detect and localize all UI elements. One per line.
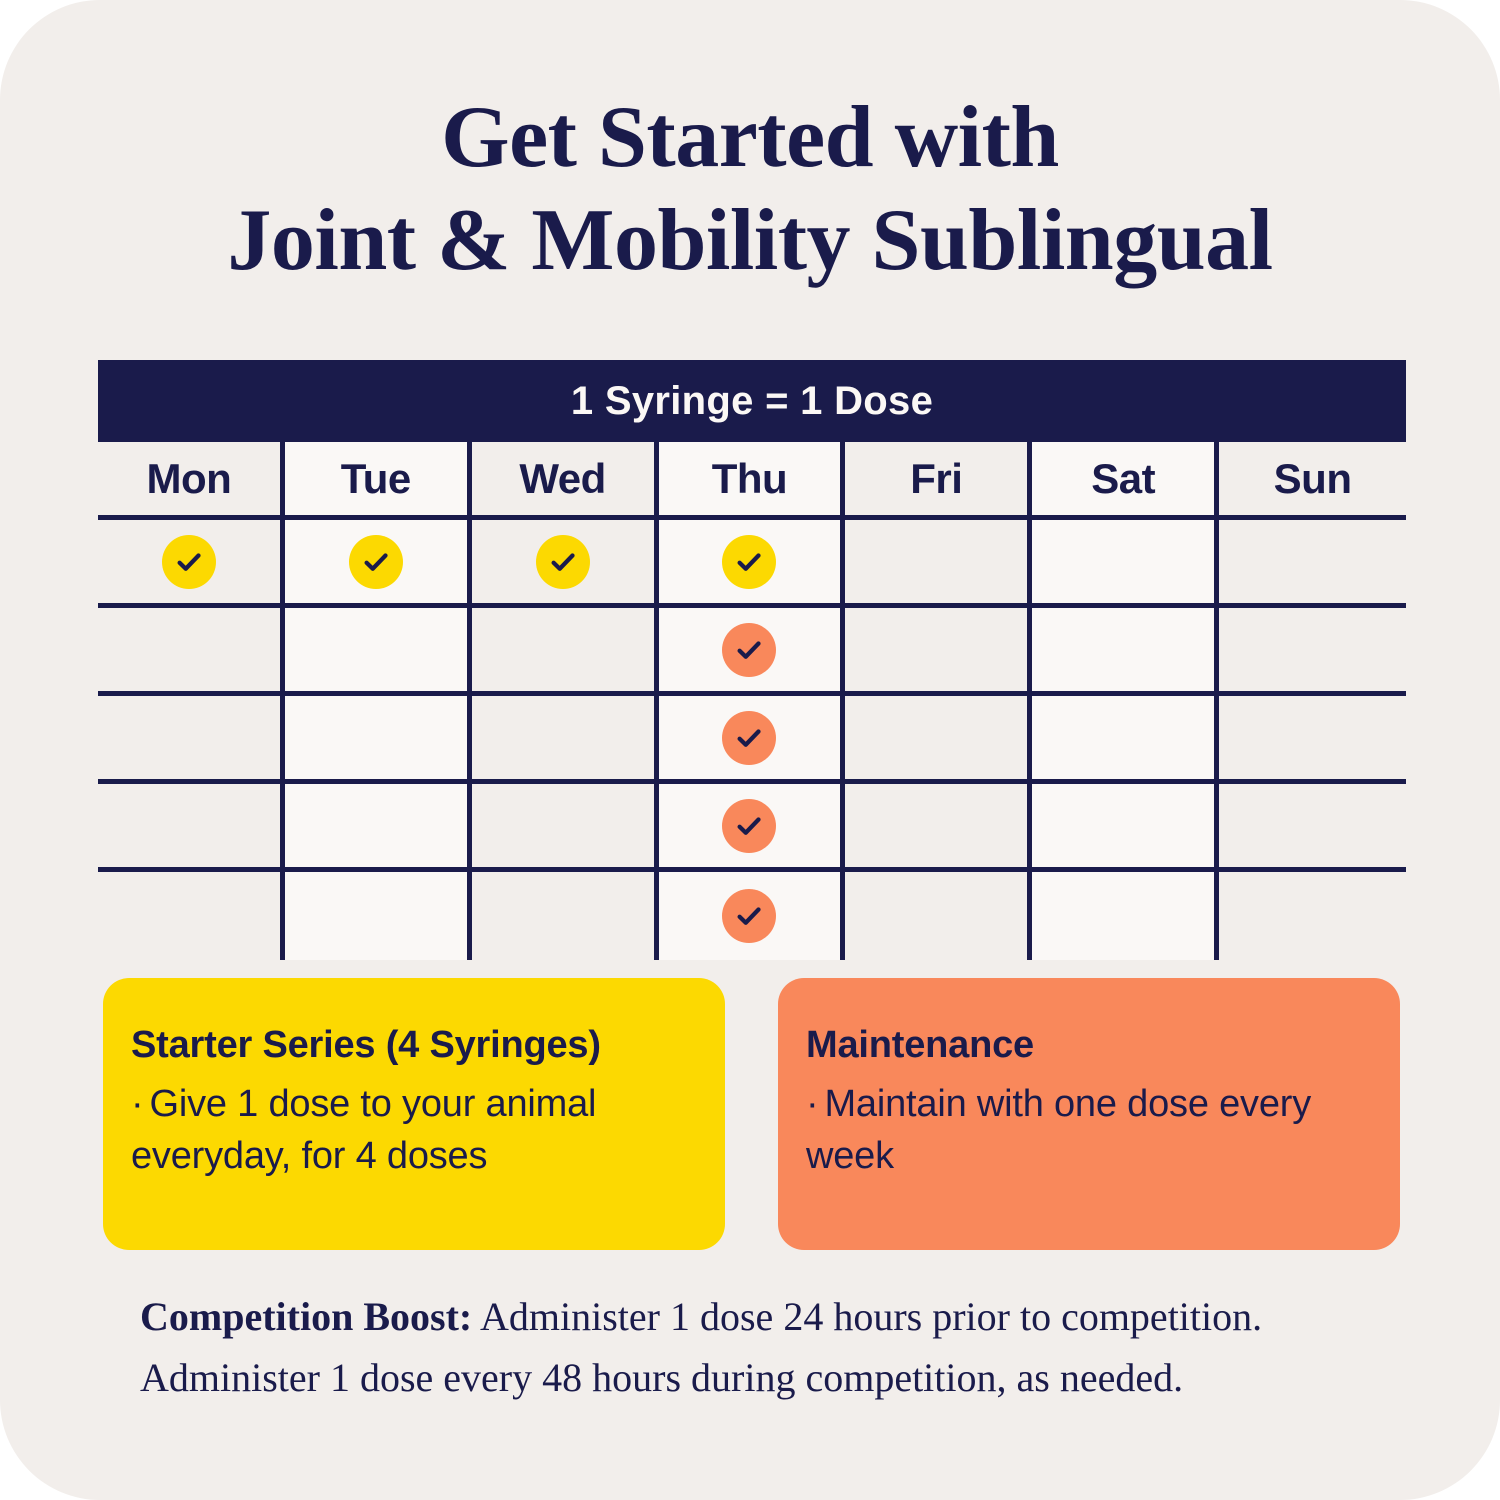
calendar-cell-sun-4[interactable] — [1219, 784, 1406, 872]
page-title-line-1: Get Started with — [0, 86, 1500, 189]
calendar-cell-thu-2[interactable] — [659, 608, 846, 696]
calendar-cell-tue-5[interactable] — [285, 872, 472, 960]
calendar-cell-fri-4[interactable] — [845, 784, 1032, 872]
dose-yellow-check-icon — [536, 535, 590, 589]
calendar-cell-wed-2[interactable] — [472, 608, 659, 696]
dose-yellow-check-icon — [349, 535, 403, 589]
calendar-cell-fri-3[interactable] — [845, 696, 1032, 784]
calendar-day-header-label: Sat — [1091, 455, 1155, 503]
calendar-cell-tue-3[interactable] — [285, 696, 472, 784]
legend-card-maintenance: Maintenance·Maintain with one dose every… — [778, 978, 1400, 1250]
dose-orange-check-icon — [722, 711, 776, 765]
calendar-cell-thu-1[interactable] — [659, 520, 846, 608]
calendar-grid: MonTueWedThuFriSatSun — [98, 442, 1406, 960]
calendar-cell-thu-5[interactable] — [659, 872, 846, 960]
calendar-cell-fri-5[interactable] — [845, 872, 1032, 960]
calendar-day-header-sun: Sun — [1219, 442, 1406, 520]
calendar-cell-wed-3[interactable] — [472, 696, 659, 784]
calendar-cell-mon-1[interactable] — [98, 520, 285, 608]
dose-orange-check-icon — [722, 623, 776, 677]
calendar-cell-tue-2[interactable] — [285, 608, 472, 696]
page-title: Get Started with Joint & Mobility Sublin… — [0, 86, 1500, 292]
bullet-dot-icon: · — [131, 1083, 143, 1125]
calendar-day-header-fri: Fri — [845, 442, 1032, 520]
calendar-day-header-label: Fri — [910, 455, 962, 503]
calendar-day-header-wed: Wed — [472, 442, 659, 520]
calendar-cell-sat-3[interactable] — [1032, 696, 1219, 784]
calendar-cell-sat-2[interactable] — [1032, 608, 1219, 696]
calendar-cell-sat-4[interactable] — [1032, 784, 1219, 872]
calendar-cell-sun-3[interactable] — [1219, 696, 1406, 784]
calendar-cell-thu-3[interactable] — [659, 696, 846, 784]
dose-yellow-check-icon — [162, 535, 216, 589]
legend-card-bullet: ·Give 1 dose to your animal everyday, fo… — [131, 1078, 689, 1182]
calendar-banner: 1 Syringe = 1 Dose — [98, 360, 1406, 442]
calendar-cell-fri-2[interactable] — [845, 608, 1032, 696]
calendar-cell-mon-4[interactable] — [98, 784, 285, 872]
calendar-cell-mon-2[interactable] — [98, 608, 285, 696]
legend-card-bullet-text: Give 1 dose to your animal everyday, for… — [131, 1083, 596, 1177]
legend-card-bullet-text: Maintain with one dose every week — [806, 1083, 1311, 1177]
calendar-cell-fri-1[interactable] — [845, 520, 1032, 608]
legend-row: Starter Series (4 Syringes)·Give 1 dose … — [103, 978, 1403, 1250]
calendar-cell-sun-2[interactable] — [1219, 608, 1406, 696]
calendar-cell-tue-1[interactable] — [285, 520, 472, 608]
calendar-day-header-label: Mon — [147, 455, 232, 503]
calendar-day-header-label: Tue — [341, 455, 411, 503]
footnote: Competition Boost: Administer 1 dose 24 … — [140, 1286, 1320, 1408]
calendar-cell-sun-1[interactable] — [1219, 520, 1406, 608]
calendar-cell-thu-4[interactable] — [659, 784, 846, 872]
calendar-cell-sat-5[interactable] — [1032, 872, 1219, 960]
legend-card-title: Starter Series (4 Syringes) — [131, 1022, 689, 1068]
calendar-cell-mon-5[interactable] — [98, 872, 285, 960]
calendar-day-header-label: Thu — [712, 455, 787, 503]
calendar-cell-sun-5[interactable] — [1219, 872, 1406, 960]
calendar-cell-wed-1[interactable] — [472, 520, 659, 608]
calendar-cell-mon-3[interactable] — [98, 696, 285, 784]
bullet-dot-icon: · — [806, 1083, 818, 1125]
calendar-day-header-tue: Tue — [285, 442, 472, 520]
page-title-line-2: Joint & Mobility Sublingual — [0, 189, 1500, 292]
legend-card-bullet: ·Maintain with one dose every week — [806, 1078, 1364, 1182]
calendar-day-header-sat: Sat — [1032, 442, 1219, 520]
calendar-day-header-label: Sun — [1274, 455, 1352, 503]
dosing-calendar: 1 Syringe = 1 Dose MonTueWedThuFriSatSun — [98, 360, 1406, 960]
dosing-instructions-card: Get Started with Joint & Mobility Sublin… — [0, 0, 1500, 1500]
dose-yellow-check-icon — [722, 535, 776, 589]
dose-orange-check-icon — [722, 889, 776, 943]
calendar-day-header-mon: Mon — [98, 442, 285, 520]
legend-card-title: Maintenance — [806, 1022, 1364, 1068]
calendar-cell-tue-4[interactable] — [285, 784, 472, 872]
calendar-cell-sat-1[interactable] — [1032, 520, 1219, 608]
calendar-cell-wed-4[interactable] — [472, 784, 659, 872]
calendar-cell-wed-5[interactable] — [472, 872, 659, 960]
legend-card-starter: Starter Series (4 Syringes)·Give 1 dose … — [103, 978, 725, 1250]
calendar-day-header-label: Wed — [519, 455, 605, 503]
calendar-day-header-thu: Thu — [659, 442, 846, 520]
dose-orange-check-icon — [722, 799, 776, 853]
footnote-label: Competition Boost: — [140, 1294, 472, 1339]
